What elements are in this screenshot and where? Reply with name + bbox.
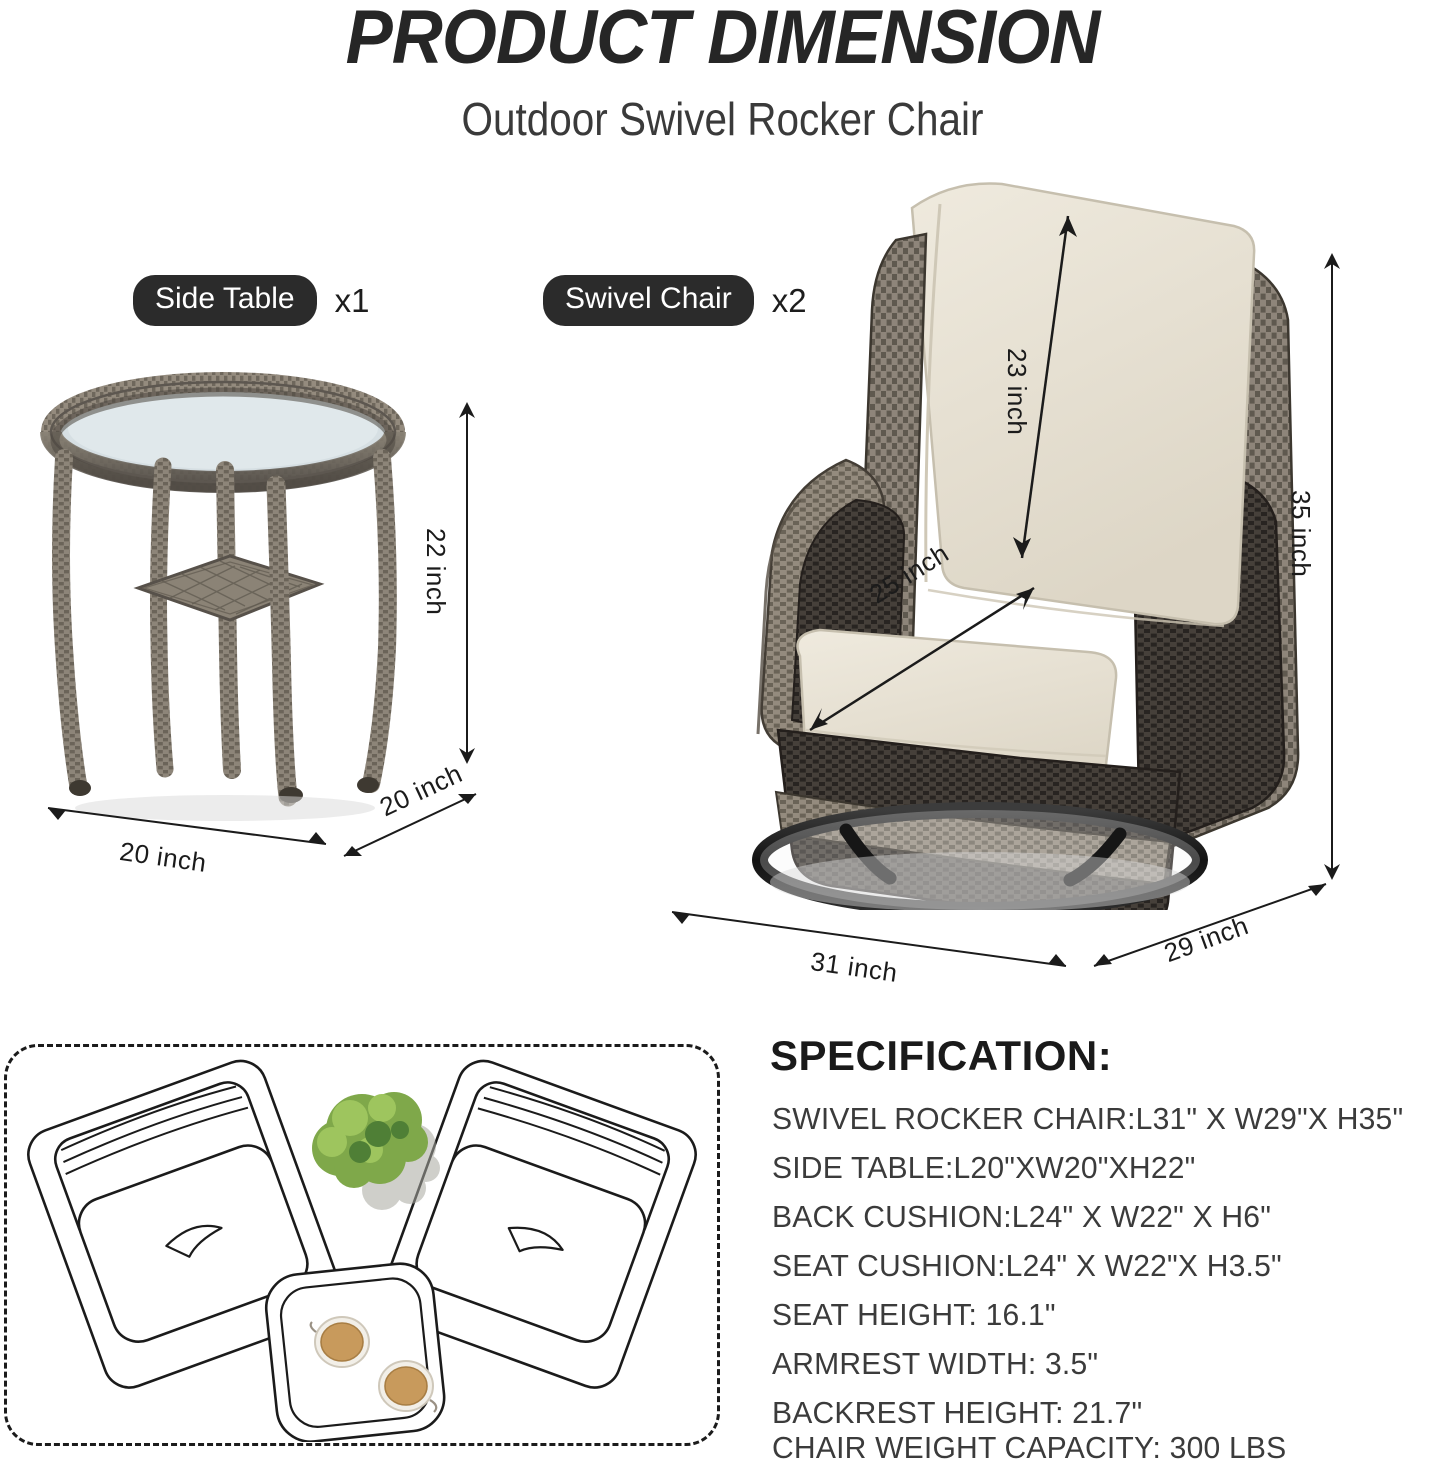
spec-line: SEAT HEIGHT: 16.1" — [772, 1297, 1056, 1333]
side-table-label-group: Side Table x1 — [133, 275, 369, 326]
spec-heading: SPECIFICATION: — [770, 1032, 1112, 1080]
page-subtitle: Outdoor Swivel Rocker Chair — [87, 92, 1359, 146]
chair-back-cushion-height-label: 23 inch — [1001, 348, 1032, 435]
spec-line: ARMREST WIDTH: 3.5" — [772, 1346, 1098, 1382]
spec-line: CHAIR WEIGHT CAPACITY: 300 LBS — [772, 1430, 1286, 1466]
arrow-down-icon — [458, 748, 476, 764]
side-table-illustration — [20, 370, 480, 840]
side-table-height-label: 22 inch — [420, 528, 451, 615]
arrow-up-icon — [1323, 253, 1341, 269]
layout-diagram — [10, 1050, 714, 1442]
side-table-count: x1 — [335, 282, 370, 320]
page-title: PRODUCT DIMENSION — [51, 0, 1395, 81]
spec-line: SEAT CUSHION:L24" X W22"X H3.5" — [772, 1248, 1282, 1284]
spec-line: BACK CUSHION:L24" X W22" X H6" — [772, 1199, 1271, 1235]
arrow-up-icon — [458, 402, 476, 418]
swivel-chair-illustration — [650, 170, 1330, 910]
badge-side-table: Side Table — [133, 275, 317, 326]
chair-height-label: 35 inch — [1285, 490, 1316, 577]
spec-line: SIDE TABLE:L20"XW20"XH22" — [772, 1150, 1196, 1186]
chair-height-line — [1331, 262, 1333, 872]
spec-line: SWIVEL ROCKER CHAIR:L31" X W29"X H35" — [772, 1101, 1403, 1137]
spec-line: BACKREST HEIGHT: 21.7" — [772, 1395, 1142, 1431]
plant-icon — [312, 1092, 440, 1210]
side-table-height-line — [466, 410, 468, 756]
